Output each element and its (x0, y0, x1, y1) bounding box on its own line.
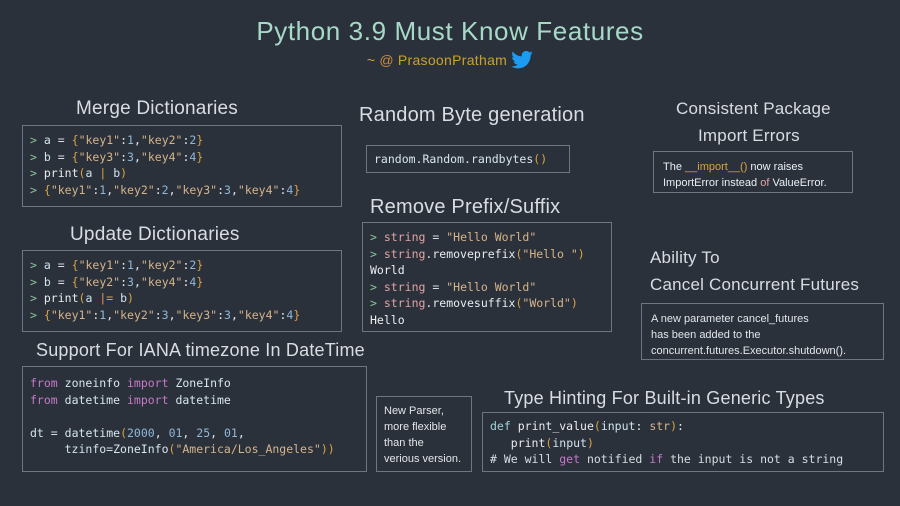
text-box-new-parser: New Parser, more flexiblethan the veriou… (376, 396, 472, 472)
code-random-byte-generation: random.Random.randbytes() (367, 146, 569, 174)
text-box-import-errors: The __import__() now raisesImportError i… (653, 151, 853, 193)
cancel-futures-line1: A new parameter cancel_futures (651, 313, 809, 325)
cancel-futures-line3: concurrent.futures.Executor.shutdown(). (651, 345, 846, 357)
heading-cancel-futures-line1: Ability To (650, 248, 720, 268)
code-update-dictionaries: > a = {"key1":1,"key2":2} > b = {"key2":… (23, 251, 341, 329)
new-parser-line4: verious version. (384, 453, 461, 465)
code-remove-prefix-suffix: > string = "Hello World" > string.remove… (363, 223, 611, 334)
import-errors-code: __import__() (685, 161, 747, 173)
page-title: Python 3.9 Must Know Features (0, 16, 900, 47)
heading-consistent-package-line1: Consistent Package (676, 99, 831, 119)
code-box-remove-prefix-suffix: > string = "Hello World" > string.remove… (362, 222, 612, 332)
text-cancel-futures: A new parameter cancel_futureshas been a… (642, 304, 883, 366)
import-errors-text-a: The (663, 161, 685, 173)
text-box-cancel-futures: A new parameter cancel_futureshas been a… (641, 303, 884, 360)
import-errors-text-c: now raises (747, 161, 803, 173)
byline-tilde: ~ (367, 52, 375, 68)
code-box-type-hinting: def print_value(input: str): print(input… (482, 412, 884, 472)
byline: ~@PrasoonPratham (0, 51, 900, 69)
code-box-merge-dictionaries: > a = {"key1":1,"key2":2} > b = {"key3":… (22, 125, 342, 207)
text-import-errors: The __import__() now raisesImportError i… (654, 152, 852, 198)
text-new-parser: New Parser, more flexiblethan the veriou… (377, 397, 471, 473)
new-parser-line2: more flexible (384, 421, 446, 433)
cancel-futures-line2: has been added to the (651, 329, 760, 341)
import-errors-text-of: of (760, 177, 769, 189)
new-parser-line3: than the (384, 437, 424, 449)
byline-at-symbol: @ (379, 52, 394, 68)
heading-consistent-package-line2: Import Errors (698, 126, 800, 146)
code-iana-timezone: from zoneinfo import ZoneInfo from datet… (23, 367, 366, 464)
heading-update-dictionaries: Update Dictionaries (70, 224, 240, 246)
heading-type-hinting: Type Hinting For Built-in Generic Types (504, 388, 825, 409)
heading-random-byte-generation: Random Byte generation (359, 104, 585, 127)
heading-cancel-futures-line2: Cancel Concurrent Futures (650, 275, 859, 295)
new-parser-line1: New Parser, (384, 405, 444, 417)
heading-remove-prefix-suffix: Remove Prefix/Suffix (370, 196, 560, 219)
code-box-update-dictionaries: > a = {"key1":1,"key2":2} > b = {"key2":… (22, 250, 342, 332)
byline-handle: PrasoonPratham (398, 52, 507, 68)
heading-iana-timezone: Support For IANA timezone In DateTime (36, 340, 365, 361)
twitter-bird-icon (511, 51, 533, 69)
heading-merge-dictionaries: Merge Dictionaries (76, 98, 238, 120)
import-errors-text-d: ImportError instead (663, 177, 760, 189)
import-errors-text-e: ValueError. (769, 177, 826, 189)
code-merge-dictionaries: > a = {"key1":1,"key2":2} > b = {"key3":… (23, 126, 341, 204)
infographic-canvas: Python 3.9 Must Know Features ~@PrasoonP… (0, 0, 900, 506)
header: Python 3.9 Must Know Features ~@PrasoonP… (0, 16, 900, 69)
code-type-hinting: def print_value(input: str): print(input… (483, 413, 883, 474)
code-box-random-byte-generation: random.Random.randbytes() (366, 145, 570, 173)
code-box-iana-timezone: from zoneinfo import ZoneInfo from datet… (22, 366, 367, 472)
